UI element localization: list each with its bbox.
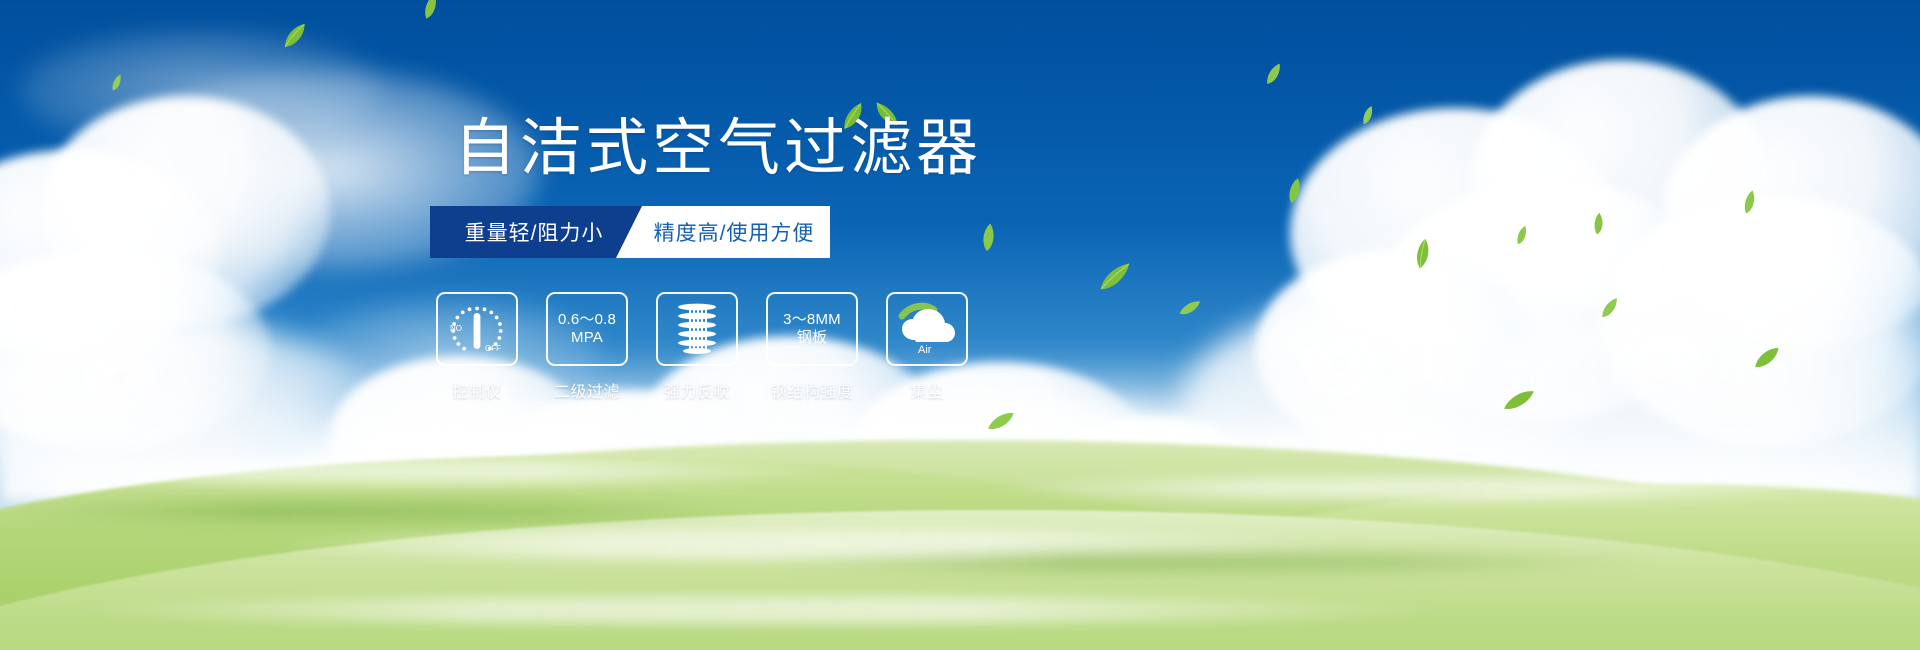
banner-content: 自洁式空气过滤器 重量轻/阻力小 精度高/使用方便 bbox=[430, 118, 1130, 402]
control-dial-icon: NO OFF bbox=[447, 301, 507, 357]
product-hero-banner: 自洁式空气过滤器 重量轻/阻力小 精度高/使用方便 bbox=[0, 0, 1920, 650]
green-grass-field bbox=[0, 380, 1920, 650]
feature-label: 控制仪 bbox=[452, 378, 502, 402]
feature-label: 钢结构强度 bbox=[771, 378, 854, 402]
feature-icon-box: 0.6～0.8 MPA bbox=[546, 292, 628, 366]
feature-dust-collect: Air 集尘 bbox=[886, 292, 968, 402]
feature-label: 二级过滤 bbox=[554, 378, 620, 402]
feature-label: 强力反吹 bbox=[664, 378, 730, 402]
tag-label: 重量轻/阻力小 bbox=[465, 217, 604, 247]
steel-plate-text-icon: 3～8MM bbox=[783, 311, 841, 329]
feature-tag-bar: 重量轻/阻力小 精度高/使用方便 bbox=[430, 206, 826, 258]
feature-controller: NO OFF 控制仪 bbox=[436, 292, 518, 402]
dial-label-off: OFF bbox=[485, 344, 501, 353]
cloud-air-icon: Air bbox=[896, 302, 958, 356]
feature-icon-box: 3～8MM 钢板 bbox=[766, 292, 858, 366]
feature-icon-box bbox=[656, 292, 738, 366]
feature-steel-strength: 3～8MM 钢板 钢结构强度 bbox=[766, 292, 858, 402]
tag-high-precision: 精度高/使用方便 bbox=[616, 206, 830, 258]
feature-icon-box: Air bbox=[886, 292, 968, 366]
tag-label: 精度高/使用方便 bbox=[654, 217, 815, 247]
filter-coil-icon bbox=[671, 302, 723, 356]
feature-backblow: 强力反吹 bbox=[656, 292, 738, 402]
dial-label-no: NO bbox=[450, 324, 462, 333]
cloud-air-text: Air bbox=[918, 344, 932, 356]
pressure-text-icon: 0.6～0.8 bbox=[558, 311, 616, 329]
feature-two-stage: 0.6～0.8 MPA 二级过滤 bbox=[546, 292, 628, 402]
pressure-unit-text: MPA bbox=[571, 329, 603, 347]
tag-light-weight: 重量轻/阻力小 bbox=[430, 206, 652, 258]
page-title: 自洁式空气过滤器 bbox=[454, 118, 1130, 180]
feature-label: 集尘 bbox=[910, 378, 943, 402]
feature-icon-row: NO OFF 控制仪 0.6～0.8 MPA 二级过滤 bbox=[436, 292, 1130, 402]
steel-plate-unit-text: 钢板 bbox=[797, 329, 827, 347]
feature-icon-box: NO OFF bbox=[436, 292, 518, 366]
